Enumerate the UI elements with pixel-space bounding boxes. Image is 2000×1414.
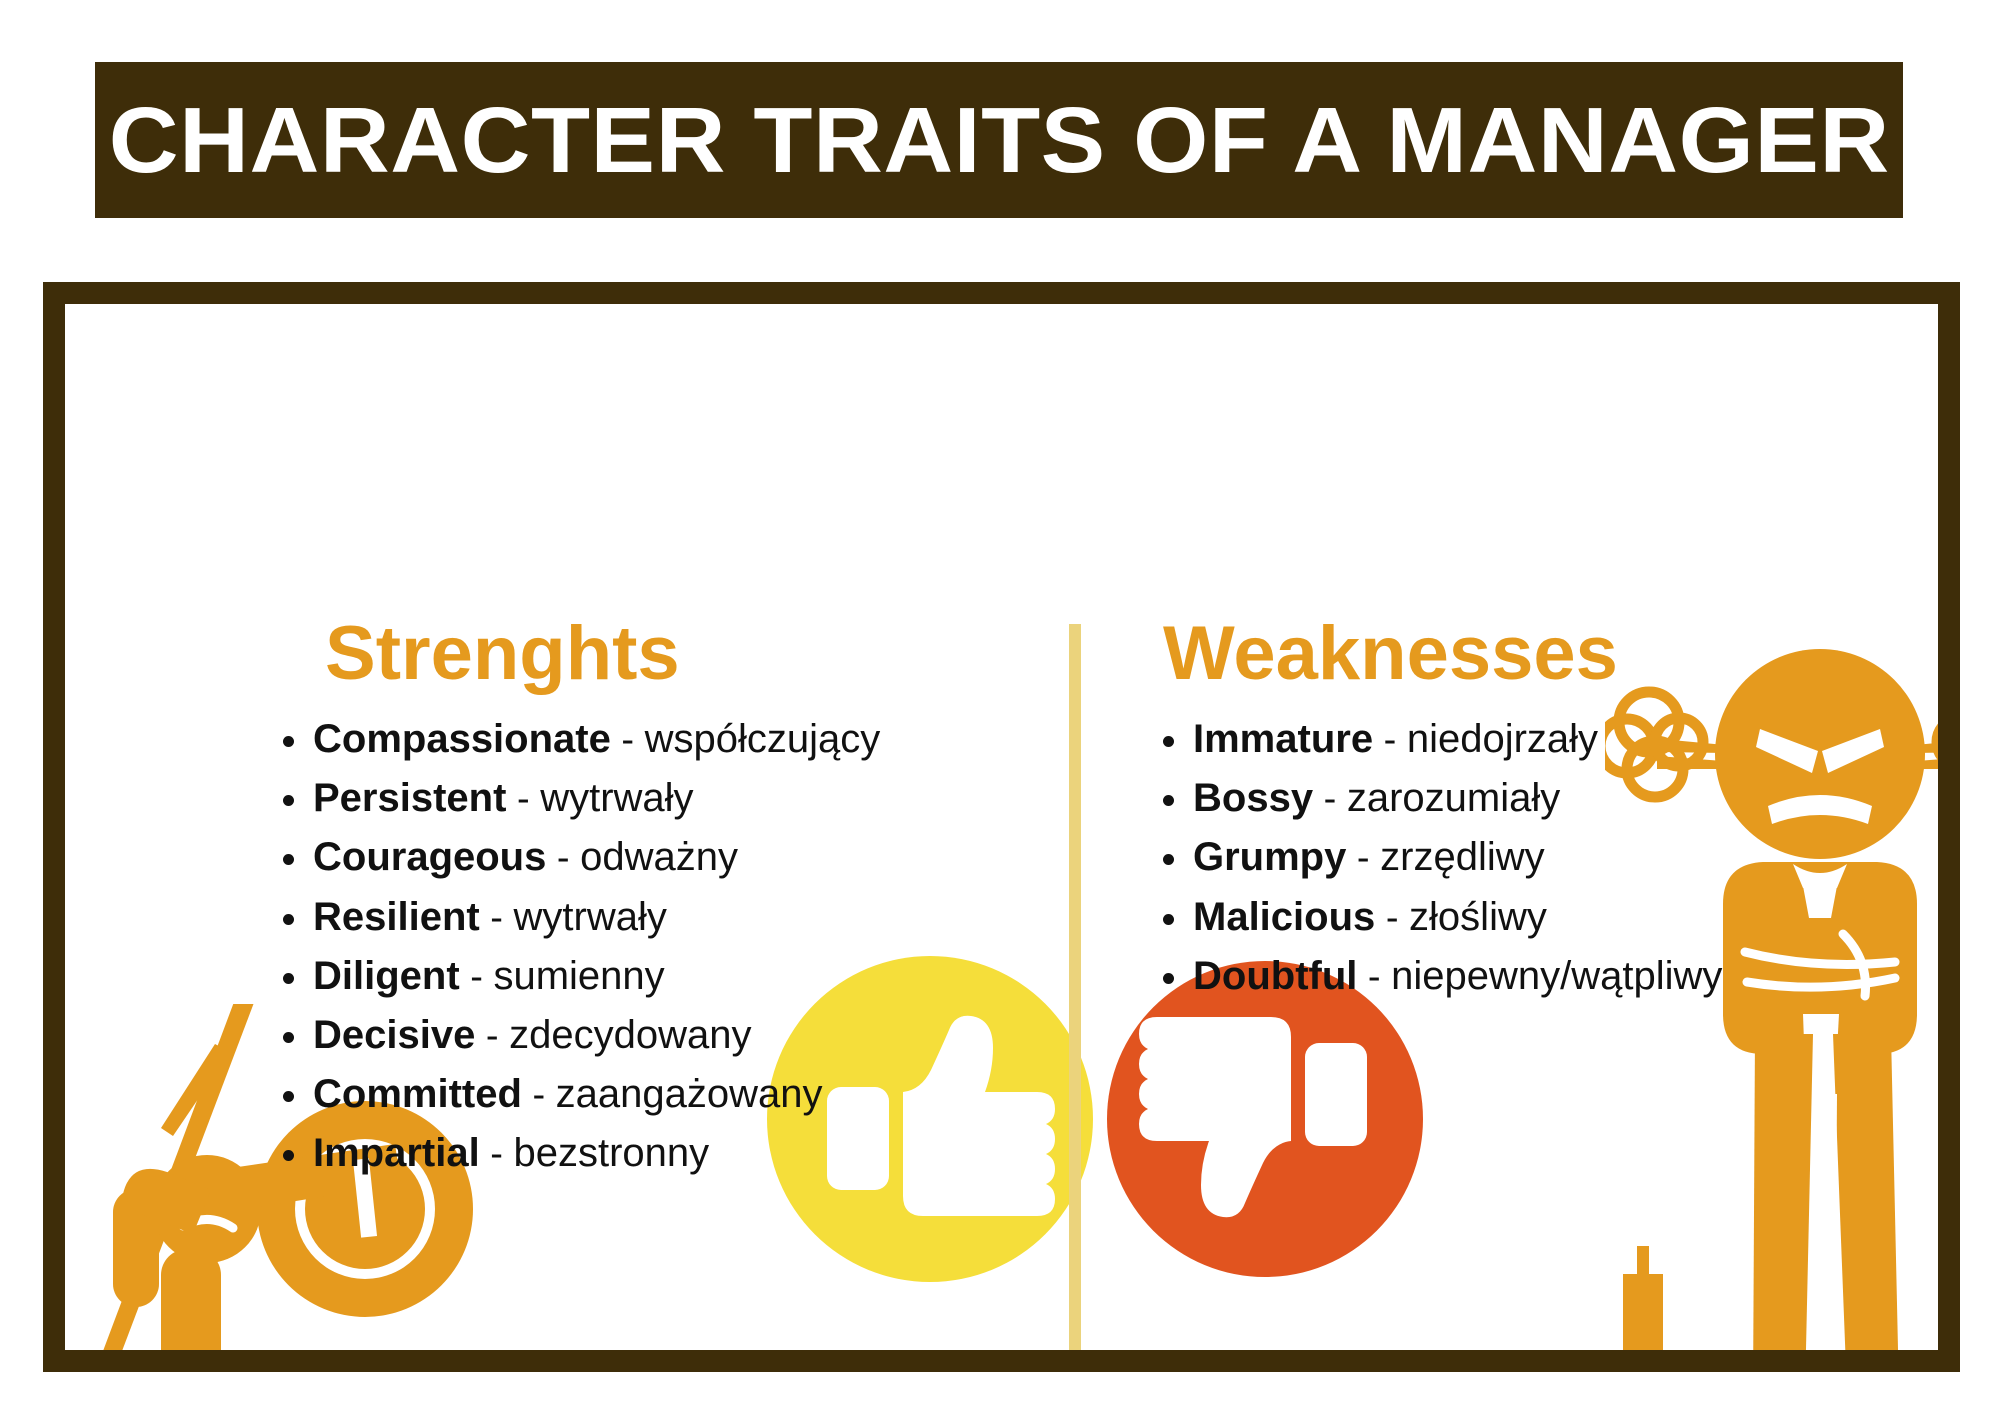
list-item: Impartial - bezstronny xyxy=(265,1132,1055,1175)
list-item: Courageous - odważny xyxy=(265,836,1055,879)
trait-separator: - xyxy=(506,778,540,820)
list-item: Doubtful - niepewny/wątpliwy xyxy=(1145,955,1938,998)
trait-separator: - xyxy=(1346,837,1380,879)
trait-separator: - xyxy=(480,1133,514,1175)
bullet-icon xyxy=(1163,736,1174,747)
weaknesses-list: Immature - niedojrzały Bossy - zarozumia… xyxy=(1145,718,1938,998)
list-item: Diligent - sumienny xyxy=(265,955,1055,998)
trait-term: Diligent xyxy=(313,954,460,998)
trait-separator: - xyxy=(1375,897,1409,939)
content-panel: Strenghts Compassionate - współczujący P… xyxy=(43,282,1960,1372)
trait-term: Grumpy xyxy=(1193,835,1346,879)
list-item: Decisive - zdecydowany xyxy=(265,1014,1055,1057)
trait-term: Doubtful xyxy=(1193,954,1357,998)
list-item: Resilient - wytrwały xyxy=(265,896,1055,939)
trait-term: Immature xyxy=(1193,717,1373,761)
trait-separator: - xyxy=(611,719,645,761)
bullet-icon xyxy=(1163,914,1174,925)
trait-term: Persistent xyxy=(313,776,506,820)
list-item: Bossy - zarozumiały xyxy=(1145,777,1938,820)
trait-translation: bezstronny xyxy=(514,1131,710,1175)
strengths-list: Compassionate - współczujący Persistent … xyxy=(255,718,1055,1176)
trait-translation: wytrwały xyxy=(540,776,693,820)
page-title: CHARACTER TRAITS OF A MANAGER xyxy=(108,94,1889,187)
trait-translation: niepewny/wątpliwy xyxy=(1391,954,1722,998)
trait-translation: współczujący xyxy=(645,717,881,761)
trait-term: Courageous xyxy=(313,835,546,879)
trait-translation: złośliwy xyxy=(1409,895,1547,939)
trait-separator: - xyxy=(475,1015,509,1057)
bullet-icon xyxy=(1163,795,1174,806)
bullet-icon xyxy=(283,854,294,865)
trait-term: Impartial xyxy=(313,1131,480,1175)
page-title-bar: CHARACTER TRAITS OF A MANAGER xyxy=(95,62,1903,218)
trait-translation: sumienny xyxy=(493,954,664,998)
bullet-icon xyxy=(283,1150,294,1161)
trait-separator: - xyxy=(1373,719,1407,761)
trait-separator: - xyxy=(1313,778,1347,820)
trait-separator: - xyxy=(546,837,580,879)
column-divider xyxy=(1069,624,1081,1350)
bullet-icon xyxy=(283,1091,294,1102)
content-panel-inner: Strenghts Compassionate - współczujący P… xyxy=(65,304,1938,1350)
trait-translation: zaangażowany xyxy=(556,1072,823,1116)
trait-separator: - xyxy=(522,1074,556,1116)
trait-separator: - xyxy=(460,956,494,998)
weaknesses-column: Weaknesses Immature - niedojrzały Bossy … xyxy=(1145,616,1938,1014)
trait-term: Malicious xyxy=(1193,895,1375,939)
trait-translation: niedojrzały xyxy=(1407,717,1598,761)
list-item: Grumpy - zrzędliwy xyxy=(1145,836,1938,879)
trait-separator: - xyxy=(1357,956,1391,998)
weaknesses-heading: Weaknesses xyxy=(1145,616,1938,692)
trait-translation: zrzędliwy xyxy=(1380,835,1544,879)
trait-translation: odważny xyxy=(580,835,738,879)
bullet-icon xyxy=(283,1032,294,1043)
trait-separator: - xyxy=(480,897,514,939)
strengths-column: Strenghts Compassionate - współczujący P… xyxy=(255,616,1055,1192)
trait-translation: wytrwały xyxy=(514,895,667,939)
strengths-heading: Strenghts xyxy=(255,616,1055,692)
trait-term: Compassionate xyxy=(313,717,611,761)
bullet-icon xyxy=(283,973,294,984)
list-item: Compassionate - współczujący xyxy=(265,718,1055,761)
trait-term: Bossy xyxy=(1193,776,1313,820)
bullet-icon xyxy=(283,795,294,806)
bullet-icon xyxy=(1163,854,1174,865)
list-item: Immature - niedojrzały xyxy=(1145,718,1938,761)
trait-term: Committed xyxy=(313,1072,522,1116)
trait-term: Resilient xyxy=(313,895,480,939)
list-item: Persistent - wytrwały xyxy=(265,777,1055,820)
trait-term: Decisive xyxy=(313,1013,475,1057)
bullet-icon xyxy=(283,736,294,747)
trait-translation: zarozumiały xyxy=(1347,776,1560,820)
list-item: Committed - zaangażowany xyxy=(265,1073,1055,1116)
trait-translation: zdecydowany xyxy=(509,1013,751,1057)
bullet-icon xyxy=(1163,973,1174,984)
list-item: Malicious - złośliwy xyxy=(1145,896,1938,939)
bullet-icon xyxy=(283,914,294,925)
